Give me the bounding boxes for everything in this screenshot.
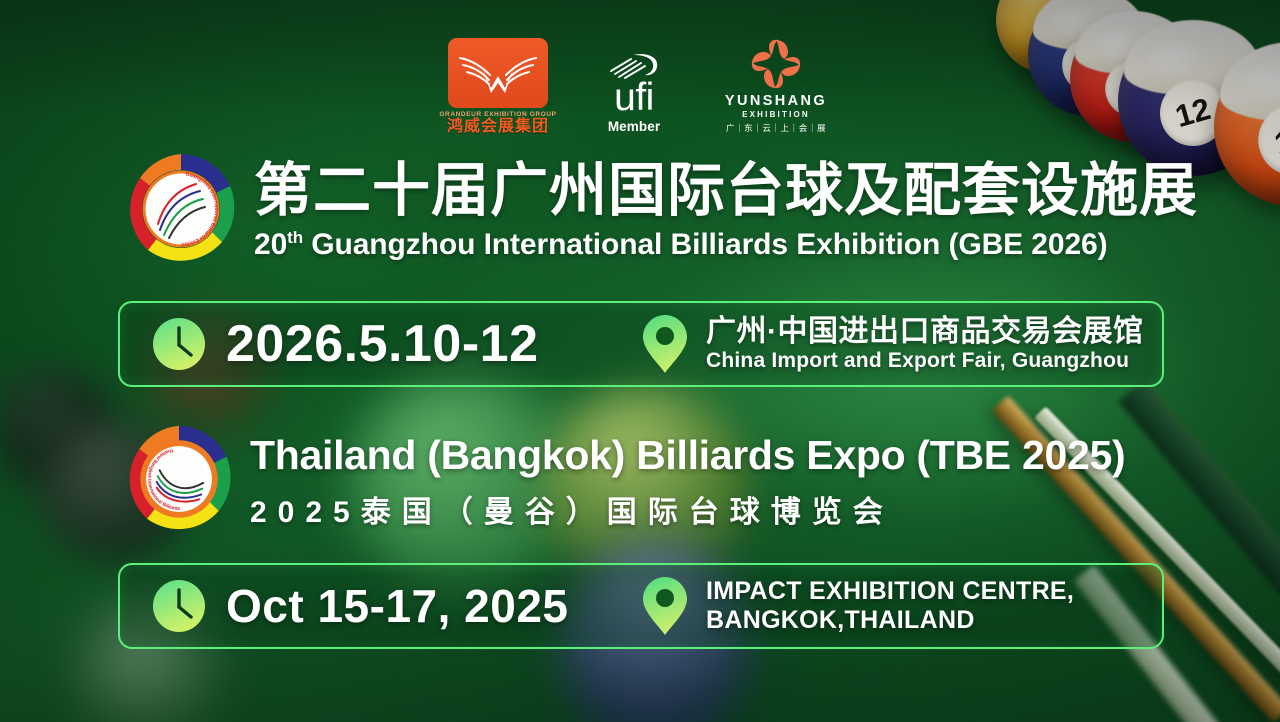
grandeur-english-name: GRANDEUR EXHIBITION GROUP [439, 111, 556, 118]
event-gbe-2026: Guangzhou International Billiards Exhibi… [0, 146, 1280, 272]
tbe-date-cell: Oct 15-17, 2025 [120, 565, 640, 647]
gbe-title-english: 20th Guangzhou International Billiards E… [254, 228, 1198, 262]
grandeur-wing-icon [457, 50, 539, 96]
tbe-venue-line-2: BANGKOK,THAILAND [706, 606, 1074, 636]
gbe-info-bar: 2026.5.10-12 广州·中国进出口 [118, 301, 1164, 387]
tbe-date-text: Oct 15-17, 2025 [226, 579, 569, 633]
gbe-edition-number: 20 [254, 228, 287, 261]
tbe-header: Thailand Bangkok International Billiards… [0, 418, 1280, 540]
location-pin-icon [642, 576, 688, 636]
yunshang-pinwheel-icon [750, 38, 802, 90]
gbe-event-logo: Guangzhou International Billiards Exhibi… [118, 146, 244, 272]
gbe-title-english-rest: Guangzhou International Billiards Exhibi… [303, 228, 1108, 261]
tbe-venue-cell: IMPACT EXHIBITION CENTRE, BANGKOK,THAILA… [640, 565, 1162, 647]
ufi-wordmark: ufi [614, 81, 654, 115]
gbe-titles: 第二十届广州国际台球及配套设施展 20th Guangzhou Internat… [254, 156, 1198, 263]
grandeur-exhibition-group-logo[interactable]: GRANDEUR EXHIBITION GROUP 鸿威会展集团 [439, 38, 557, 136]
tbe-event-logo: Thailand Bangkok International Billiards… [118, 418, 240, 540]
tbe-title-english: Thailand (Bangkok) Billiards Expo (TBE 2… [250, 432, 1125, 479]
gbe-edition-ordinal: th [287, 228, 303, 247]
gbe-venue-english: China Import and Export Fair, Guangzhou [706, 348, 1144, 373]
grandeur-badge [448, 38, 548, 108]
ufi-member-logo[interactable]: ufi Member [591, 50, 677, 136]
gbe-venue-cell: 广州·中国进出口商品交易会展馆 China Import and Export … [640, 303, 1162, 385]
yunshang-english-sub: EXHIBITION [742, 110, 810, 119]
event-tbe-2025: Thailand Bangkok International Billiards… [0, 418, 1280, 540]
clock-icon [152, 579, 206, 633]
tbe-title-chinese: 2025泰国（曼谷）国际台球博览会 [250, 487, 1125, 531]
tbe-info-bar: Oct 15-17, 2025 IMPAC [118, 563, 1164, 649]
yunshang-chinese-name: 广｜东｜云｜上｜会｜展 [726, 122, 826, 134]
ufi-member-label: Member [608, 119, 660, 134]
gbe-date-text: 2026.5.10-12 [226, 314, 539, 374]
grandeur-chinese-name: 鸿威会展集团 [447, 118, 549, 136]
tbe-venue-line-1: IMPACT EXHIBITION CENTRE, [706, 577, 1074, 607]
billiards-exhibition-poster: 9 11 12 13 [0, 0, 1280, 722]
clock-icon [152, 317, 206, 371]
sponsor-logo-strip: GRANDEUR EXHIBITION GROUP 鸿威会展集团 ufi Mem… [0, 26, 1280, 136]
tbe-venue-lines: IMPACT EXHIBITION CENTRE, BANGKOK,THAILA… [706, 577, 1074, 636]
gbe-header: Guangzhou International Billiards Exhibi… [0, 146, 1280, 272]
tbe-titles: Thailand (Bangkok) Billiards Expo (TBE 2… [250, 428, 1125, 531]
location-pin-icon [642, 314, 688, 374]
gbe-venue-chinese: 广州·中国进出口商品交易会展馆 [706, 315, 1144, 349]
yunshang-english-name: YUNSHANG [725, 93, 827, 109]
gbe-venue-lines: 广州·中国进出口商品交易会展馆 China Import and Export … [706, 315, 1144, 374]
gbe-date-cell: 2026.5.10-12 [120, 303, 640, 385]
gbe-title-chinese: 第二十届广州国际台球及配套设施展 [254, 160, 1198, 223]
yunshang-exhibition-logo[interactable]: YUNSHANG EXHIBITION 广｜东｜云｜上｜会｜展 [711, 38, 841, 136]
